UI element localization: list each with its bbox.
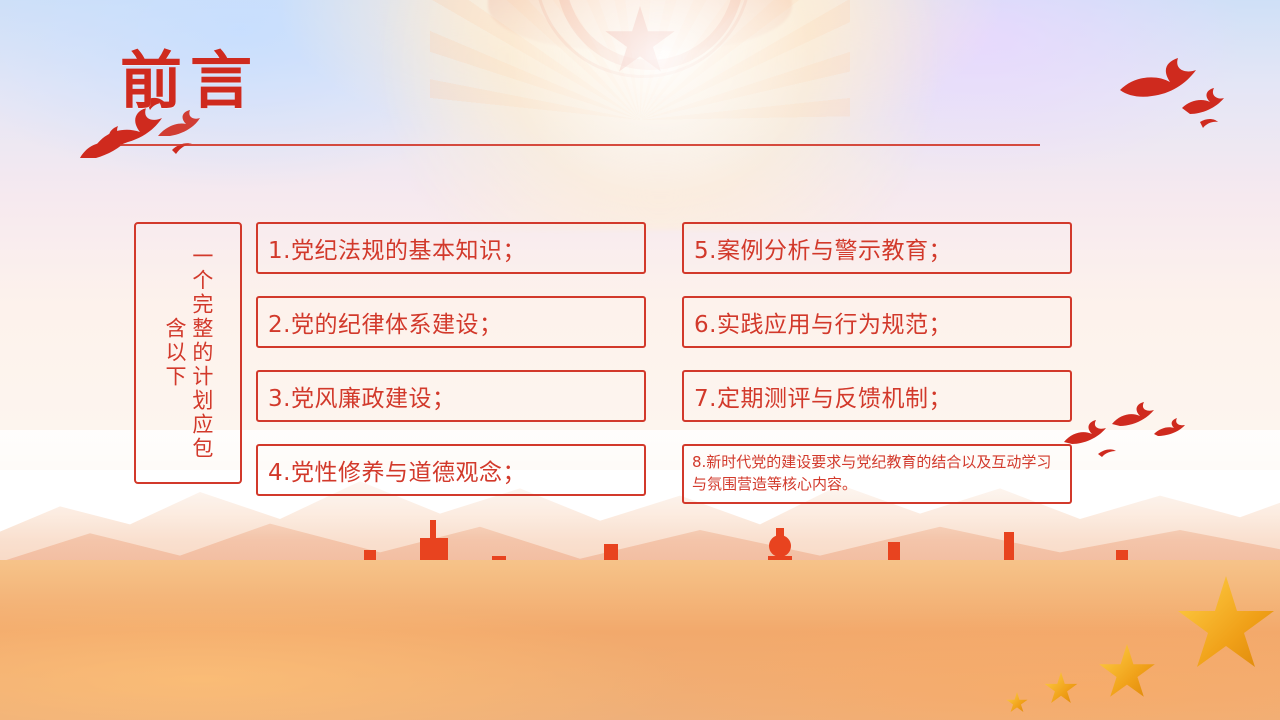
list-item[interactable]: 6.实践应用与行为规范； [682,296,1072,348]
column-right: 5.案例分析与警示教育； 6.实践应用与行为规范； 7.定期测评与反馈机制； 8… [682,222,1072,526]
summary-label-box: 一个完整的计划应包含以下 [134,222,242,484]
gold-star-large-icon [1176,576,1276,676]
column-left: 1.党纪法规的基本知识； 2.党的纪律体系建设； 3.党风廉政建设； 4.党性修… [256,222,646,518]
title-divider [120,144,1040,146]
list-item[interactable]: 7.定期测评与反馈机制； [682,370,1072,422]
list-item[interactable]: 3.党风廉政建设； [256,370,646,422]
bird-flock-small-icon [1058,398,1188,458]
title-block: 前言 [120,48,1040,113]
slide-canvas: 前言 一个完整的计划应包含以下 1.党纪法规的基本知识； 2.党的纪律体系建设；… [0,0,1280,720]
list-item[interactable]: 2.党的纪律体系建设； [256,296,646,348]
gold-star-medium-icon [1098,644,1156,702]
list-item[interactable]: 5.案例分析与警示教育； [682,222,1072,274]
list-item[interactable]: 4.党性修养与道德观念； [256,444,646,496]
summary-label-text: 一个完整的计划应包含以下 [161,235,215,471]
page-title: 前言 [120,48,1040,113]
list-item[interactable]: 8.新时代党的建设要求与党纪教育的结合以及互动学习与氛围营造等核心内容。 [682,444,1072,504]
gold-star-small-icon [1044,672,1078,706]
list-item[interactable]: 1.党纪法规的基本知识； [256,222,646,274]
sun-glow [380,0,940,230]
dove-flock-right-icon [1108,56,1228,136]
gold-star-tiny-icon [1006,692,1028,714]
ground-gradient [0,560,1280,720]
